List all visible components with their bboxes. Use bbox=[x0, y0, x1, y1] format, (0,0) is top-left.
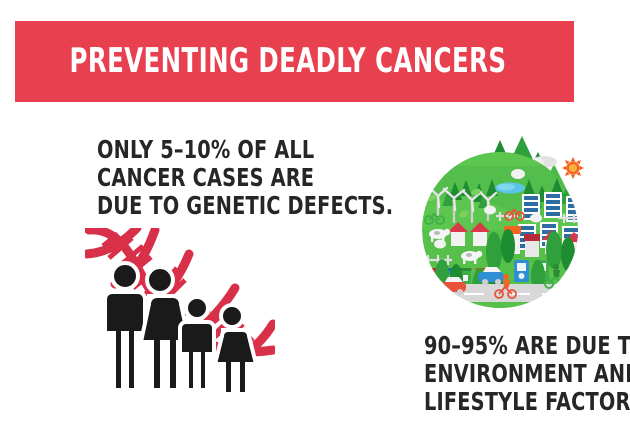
village-scene bbox=[418, 152, 593, 316]
figure-boy bbox=[180, 297, 214, 390]
statement-environment-lifestyle: 90–95% ARE DUE TO ENVIRONMENT AND LIFEST… bbox=[424, 332, 630, 416]
eco-village-illustration bbox=[418, 126, 593, 316]
dna-family-illustration bbox=[85, 228, 275, 400]
statement-line: 90–95% ARE DUE TO bbox=[424, 332, 630, 360]
figure-girl bbox=[215, 305, 256, 394]
statement-line: DUE TO GENETIC DEFECTS. bbox=[97, 192, 393, 220]
sun-icon bbox=[562, 157, 584, 179]
infographic-canvas: PREVENTING DEADLY CANCERS ONLY 5–10% OF … bbox=[0, 0, 630, 430]
statement-genetic-defects: ONLY 5–10% OF ALL CANCER CASES ARE DUE T… bbox=[97, 136, 441, 220]
page-title: PREVENTING DEADLY CANCERS bbox=[70, 44, 506, 78]
statement-line: ONLY 5–10% OF ALL bbox=[97, 136, 393, 164]
statement-line: CANCER CASES ARE bbox=[97, 164, 393, 192]
statement-line: LIFESTYLE FACTORS. bbox=[424, 388, 630, 416]
header-banner: PREVENTING DEADLY CANCERS bbox=[15, 21, 574, 102]
statement-line: ENVIRONMENT AND bbox=[424, 360, 630, 388]
